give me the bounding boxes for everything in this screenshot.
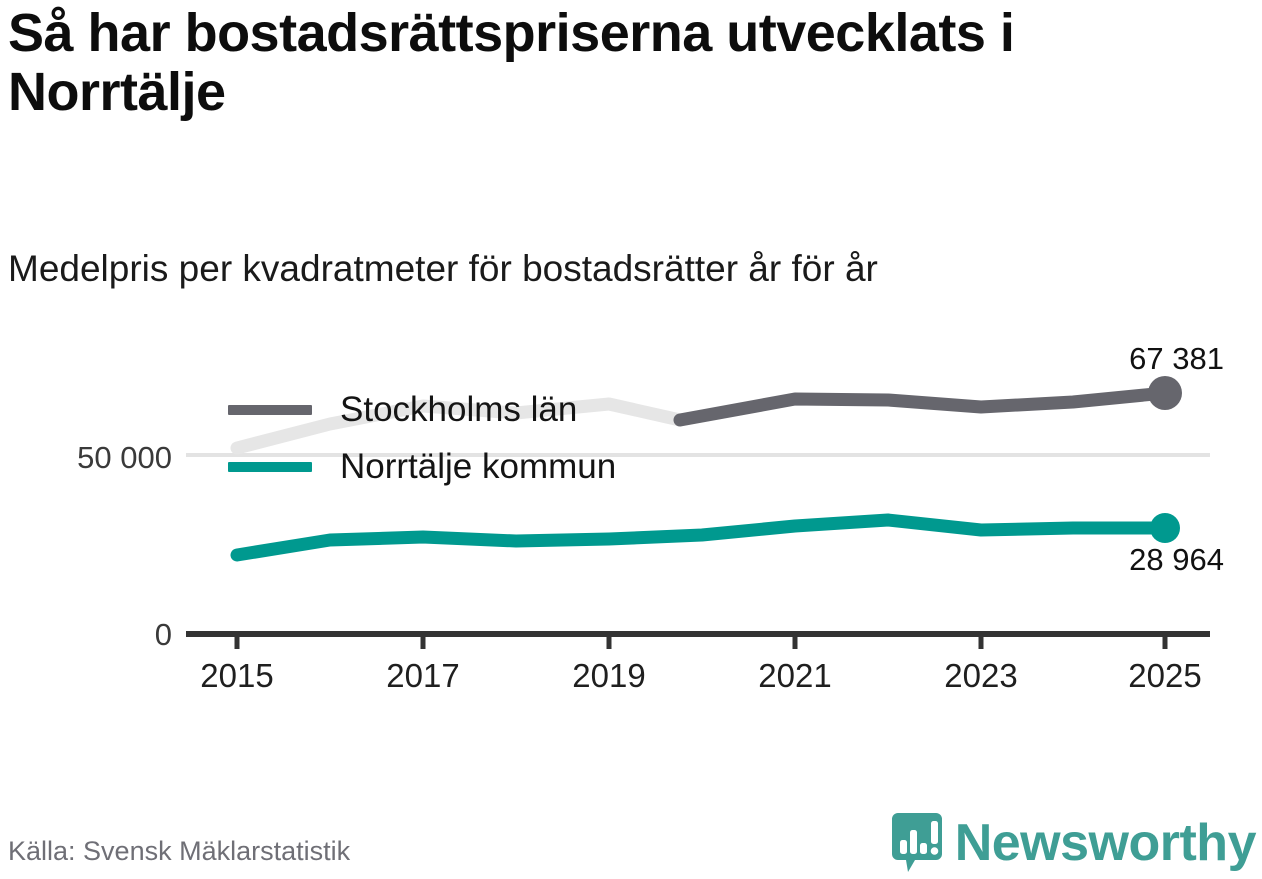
bar-chart-bubble-icon — [891, 812, 943, 874]
series-line-norrtalje — [237, 520, 1165, 555]
legend-swatch-norrtalje — [228, 462, 312, 472]
x-tick-label-2023: 2023 — [944, 657, 1017, 695]
source-note: Källa: Svensk Mäklarstatistik — [8, 836, 350, 867]
legend-swatch-stockholm — [228, 405, 312, 415]
series-endpoint-norrtalje — [1150, 513, 1180, 543]
x-tick-label-2025: 2025 — [1128, 657, 1201, 695]
page-title: Så har bostadsrättspriserna utvecklats i… — [8, 4, 1238, 123]
end-value-label-norrtalje: 28 964 — [1129, 542, 1224, 578]
y-tick-label-0: 0 — [0, 617, 172, 653]
newsworthy-logo[interactable]: Newsworthy — [891, 812, 1256, 874]
x-tick-label-2015: 2015 — [200, 657, 273, 695]
y-tick-label-50000: 50 000 — [0, 440, 172, 476]
x-tick-label-2021: 2021 — [758, 657, 831, 695]
legend-item-stockholm[interactable]: Stockholms län — [228, 392, 577, 427]
series-line-stockholm — [680, 393, 1165, 420]
line-chart-svg — [0, 330, 1262, 710]
legend-label-stockholm: Stockholms län — [340, 392, 577, 427]
legend-label-norrtalje: Norrtälje kommun — [340, 449, 616, 484]
x-tick-label-2017: 2017 — [386, 657, 459, 695]
legend-item-norrtalje[interactable]: Norrtälje kommun — [228, 449, 616, 484]
chart-plot-area: 50 000 0 2015 2017 2019 2021 2023 2025 6… — [0, 330, 1262, 710]
series-endpoint-stockholm — [1148, 376, 1182, 410]
chart-subtitle: Medelpris per kvadratmeter för bostadsrä… — [8, 248, 1238, 291]
logo-wordmark: Newsworthy — [955, 817, 1256, 869]
x-tick-label-2019: 2019 — [572, 657, 645, 695]
end-value-label-stockholm: 67 381 — [1129, 341, 1224, 377]
